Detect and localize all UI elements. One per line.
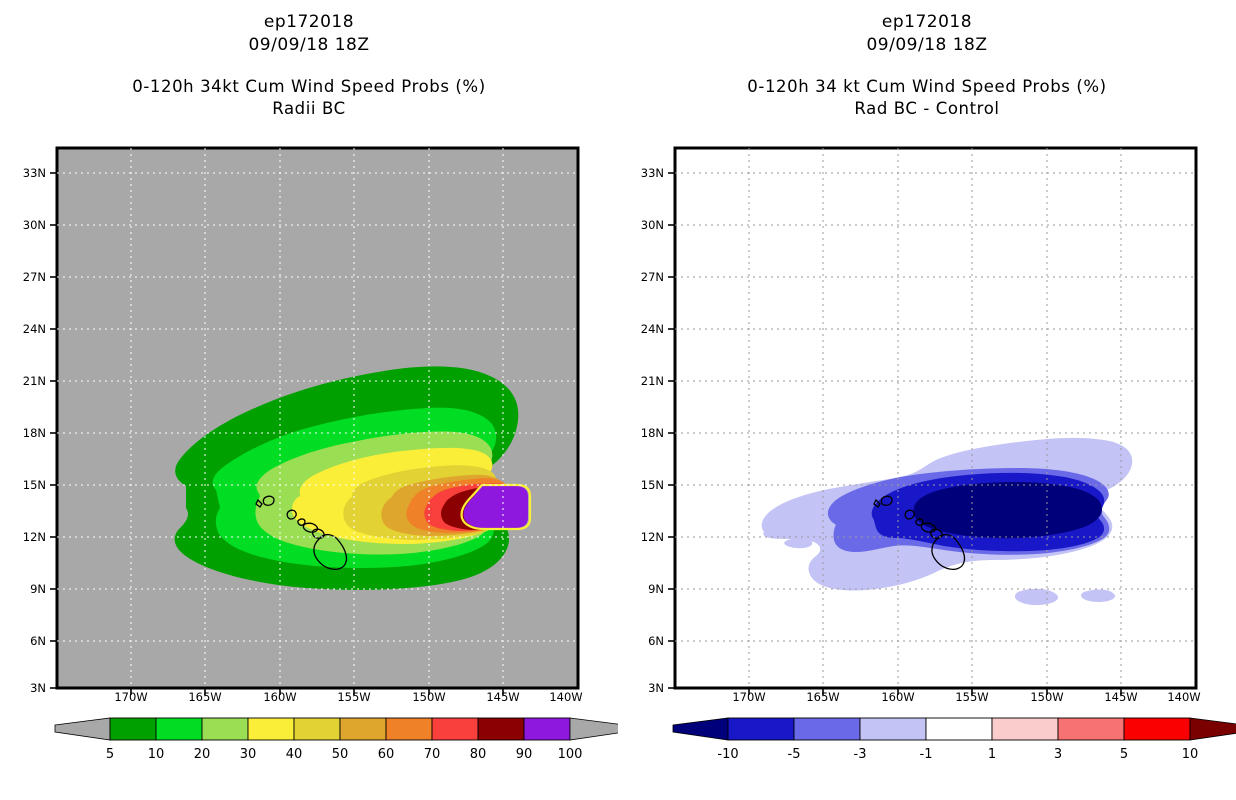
colorbar-right[interactable]: -10 -5 -3 -1 1 3 5 10 [618,710,1236,770]
colorbar-swatch[interactable] [794,718,860,740]
y-tick-label: 12N [641,530,664,544]
y-axis-right: 33N 30N 27N 24N 21N 18N 15N 12N 9N 6N 3N [641,166,675,695]
colorbar-tick-label: -1 [920,747,933,762]
colorbar-swatch[interactable] [386,718,432,740]
chart-title-sub: Radii BC [0,99,618,118]
y-tick-label: 30N [23,218,46,232]
y-tick-label: 21N [641,374,664,388]
colorbar-over-cap [1190,718,1236,740]
colorbar-tick-label: 70 [424,747,441,762]
y-tick-label: 18N [23,426,46,440]
colorbar-tick-label: 10 [1182,747,1199,762]
colorbar-tick-label: 1 [988,747,996,762]
x-tick-label: 140W [549,690,582,704]
y-tick-label: 30N [641,218,664,232]
colorbar-tick-label: 30 [240,747,257,762]
chart-title-main: 0-120h 34 kt Cum Wind Speed Probs (%) [618,77,1236,96]
colorbar-swatch[interactable] [1058,718,1124,740]
colorbar-left[interactable]: 5 10 20 30 40 50 60 70 80 90 100 [0,710,618,770]
panel-right-titles: ep172018 09/09/18 18Z 0-120h 34 kt Cum W… [618,0,1236,118]
colorbar-swatch[interactable] [524,718,570,740]
x-tick-labels-right: 170W 165W 160W 155W 150W 145W 140W [618,690,1236,710]
colorbar-swatch[interactable] [926,718,992,740]
x-tick-labels-left: 170W 165W 160W 155W 150W 145W 140W [0,690,618,710]
y-tick-label: 15N [23,478,46,492]
plot-area-right: 33N 30N 27N 24N 21N 18N 15N 12N 9N 6N 3N [618,140,1236,700]
colorbar-under-cap [673,718,728,740]
x-tick-label: 150W [1030,690,1063,704]
colorbar-tick-label: 100 [558,747,583,762]
colorbar-tick-label: 10 [148,747,165,762]
colorbar-swatch[interactable] [248,718,294,740]
panel-right: ep172018 09/09/18 18Z 0-120h 34 kt Cum W… [618,0,1236,800]
y-tick-label: 24N [641,322,664,336]
storm-id-label: ep172018 [0,12,618,32]
x-tick-label: 155W [955,690,988,704]
y-tick-label: 12N [23,530,46,544]
y-tick-label: 27N [641,270,664,284]
x-tick-label: 165W [188,690,221,704]
colorbar-tick-label: -3 [854,747,867,762]
x-tick-label: 145W [1104,690,1137,704]
y-tick-label: 15N [641,478,664,492]
colorbar-swatch[interactable] [1124,718,1190,740]
colorbar-swatch[interactable] [156,718,202,740]
colorbar-swatch[interactable] [340,718,386,740]
panel-left-titles: ep172018 09/09/18 18Z 0-120h 34kt Cum Wi… [0,0,618,118]
colorbar-swatch[interactable] [478,718,524,740]
y-tick-label: 33N [641,166,664,180]
colorbar-swatch[interactable] [294,718,340,740]
colorbar-tick-label: 3 [1054,747,1062,762]
colorbar-swatch[interactable] [202,718,248,740]
chart-title-sub: Rad BC - Control [618,99,1236,118]
colorbar-tick-label: 5 [1120,747,1128,762]
x-tick-label: 140W [1167,690,1200,704]
x-tick-label: 160W [263,690,296,704]
colorbar-tick-label: 50 [332,747,349,762]
y-tick-label: 6N [30,634,46,648]
map-background-right [675,148,1196,688]
colorbar-under-cap [55,718,110,740]
colorbar-swatch[interactable] [432,718,478,740]
y-tick-label: 21N [23,374,46,388]
colorbar-swatch[interactable] [992,718,1058,740]
colorbar-tick-label: 80 [470,747,487,762]
y-tick-label: 18N [641,426,664,440]
colorbar-tick-label: -10 [717,747,738,762]
map-svg-left: 33N 30N 27N 24N 21N 18N 15N 12N 9N 6N 3N [0,140,618,700]
colorbar-tick-label: 5 [106,747,114,762]
y-tick-label: 33N [23,166,46,180]
x-tick-label: 145W [486,690,519,704]
x-tick-label: 160W [881,690,914,704]
colorbar-tick-label: 20 [194,747,211,762]
x-tick-label: 150W [412,690,445,704]
colorbar-over-cap [570,718,618,740]
y-tick-label: 9N [30,582,46,596]
panel-left: ep172018 09/09/18 18Z 0-120h 34kt Cum Wi… [0,0,618,800]
forecast-datetime: 09/09/18 18Z [618,35,1236,55]
storm-id-label: ep172018 [618,12,1236,32]
colorbar-right-swatches[interactable] [673,718,1236,740]
colorbar-tick-label: 90 [516,747,533,762]
y-tick-label: 6N [648,634,664,648]
colorbar-right-labels: -10 -5 -3 -1 1 3 5 10 [717,747,1198,762]
map-svg-right: 33N 30N 27N 24N 21N 18N 15N 12N 9N 6N 3N [618,140,1236,700]
y-tick-label: 27N [23,270,46,284]
colorbar-tick-label: 60 [378,747,395,762]
colorbar-swatch[interactable] [110,718,156,740]
x-tick-label: 170W [732,690,765,704]
colorbar-tick-label: 40 [286,747,303,762]
colorbar-tick-label: -5 [788,747,801,762]
x-tick-label: 155W [337,690,370,704]
y-tick-label: 9N [648,582,664,596]
forecast-datetime: 09/09/18 18Z [0,35,618,55]
x-tick-label: 170W [114,690,147,704]
y-axis-left: 33N 30N 27N 24N 21N 18N 15N 12N 9N 6N 3N [23,166,57,695]
colorbar-left-swatches[interactable] [55,718,618,740]
anomaly-band-core [914,482,1102,538]
plot-area-left: 33N 30N 27N 24N 21N 18N 15N 12N 9N 6N 3N [0,140,618,700]
colorbar-left-labels: 5 10 20 30 40 50 60 70 80 90 100 [106,747,583,762]
chart-title-main: 0-120h 34kt Cum Wind Speed Probs (%) [0,77,618,96]
x-tick-label: 165W [806,690,839,704]
colorbar-swatch[interactable] [728,718,794,740]
y-tick-label: 24N [23,322,46,336]
colorbar-swatch[interactable] [860,718,926,740]
